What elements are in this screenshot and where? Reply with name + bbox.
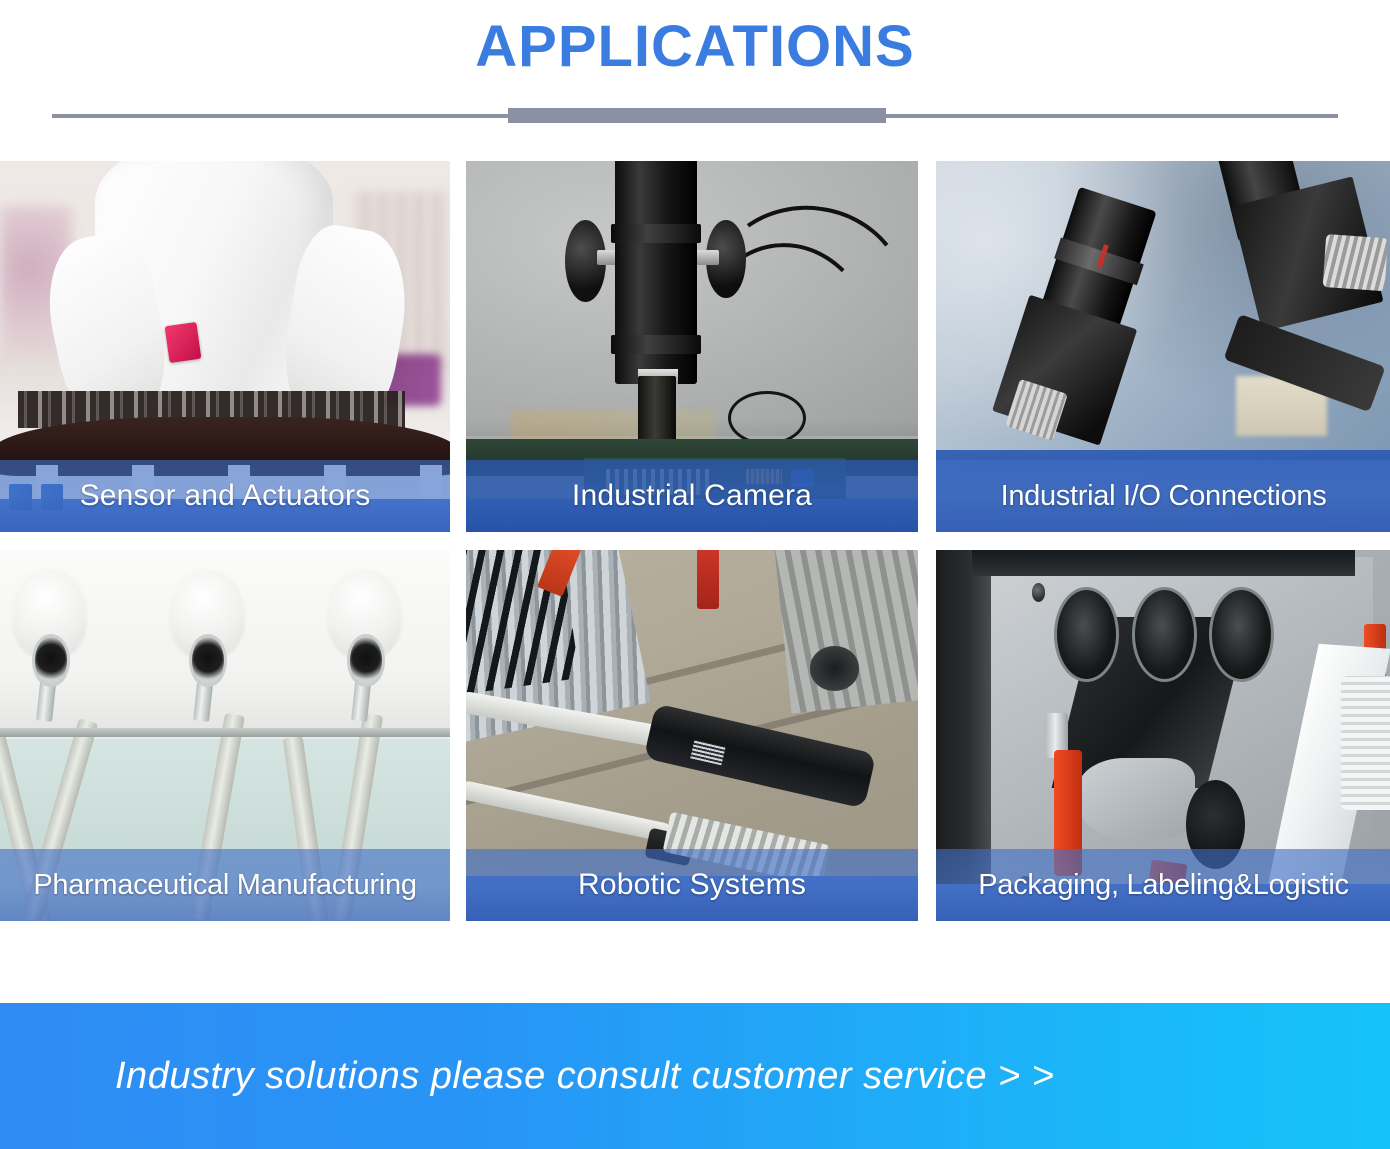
card-label-pharmaceutical-manufacturing: Pharmaceutical Manufacturing: [33, 869, 416, 902]
page-header: APPLICATIONS: [0, 0, 1390, 76]
card-label-band: Sensor and Actuators: [0, 460, 450, 532]
applications-grid: Sensor and Actuators: [0, 161, 1390, 921]
card-label-industrial-camera: Industrial Camera: [572, 479, 812, 513]
page-title: APPLICATIONS: [0, 18, 1390, 76]
card-label-band: Industrial Camera: [466, 460, 918, 532]
card-label-robotic-systems: Robotic Systems: [578, 868, 806, 902]
card-label-industrial-io-connections: Industrial I/O Connections: [1001, 480, 1327, 513]
consult-customer-service-banner[interactable]: Industry solutions please consult custom…: [0, 1003, 1390, 1149]
card-label-band: Industrial I/O Connections: [936, 460, 1390, 532]
card-label-sensor-and-actuators: Sensor and Actuators: [80, 479, 371, 513]
application-card-packaging-labeling-logistic[interactable]: Packaging, Labeling&Logistic: [936, 550, 1390, 921]
banner-text: Industry solutions please consult custom…: [115, 1055, 1054, 1098]
application-card-industrial-io-connections[interactable]: Industrial I/O Connections: [936, 161, 1390, 532]
card-label-band: Robotic Systems: [466, 849, 918, 921]
application-card-industrial-camera[interactable]: Industrial Camera: [466, 161, 918, 532]
card-label-band: Pharmaceutical Manufacturing: [0, 849, 450, 921]
application-card-robotic-systems[interactable]: Robotic Systems: [466, 550, 918, 921]
application-card-sensor-and-actuators[interactable]: Sensor and Actuators: [0, 161, 450, 532]
application-card-pharmaceutical-manufacturing[interactable]: Pharmaceutical Manufacturing: [0, 550, 450, 921]
card-label-band: Packaging, Labeling&Logistic: [936, 849, 1390, 921]
card-label-packaging-labeling-logistic: Packaging, Labeling&Logistic: [978, 869, 1348, 902]
divider-thick-segment: [508, 108, 886, 123]
section-divider: [0, 96, 1390, 136]
